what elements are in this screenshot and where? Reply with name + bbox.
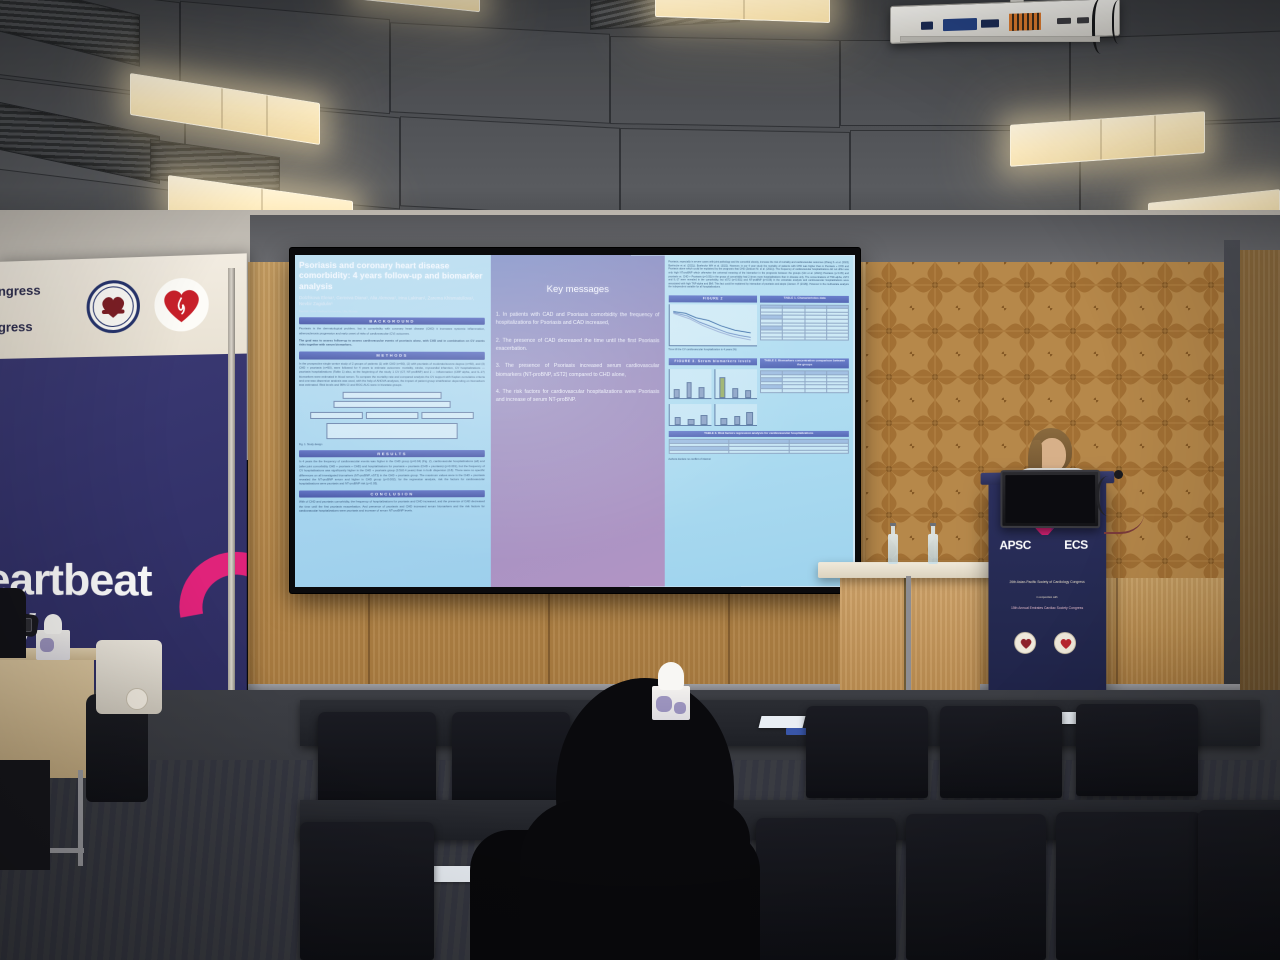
figure3-panel-b xyxy=(714,369,757,399)
seated-person-torso xyxy=(0,588,26,658)
seated-person-legs xyxy=(0,760,50,870)
podium-seal-right-icon xyxy=(1054,632,1076,654)
banner-top-section: ongress ngress xyxy=(0,253,247,359)
tissue-sheet xyxy=(44,614,62,634)
table3-label: TABLE 3. Risk factors regression analysi… xyxy=(668,430,849,437)
projector-port-block xyxy=(1009,13,1041,31)
podium-congress-line-1: 26th Asian-Pacific Society of Cardiology… xyxy=(992,580,1102,585)
key-message-item: 1. In patients with CAD and Psoriasis co… xyxy=(496,311,660,328)
projector-cable xyxy=(1092,0,1114,54)
tissue-sheet xyxy=(658,662,684,690)
banner-line-2: ngress xyxy=(0,319,33,335)
key-message-item: 2. The presence of CAD decreased the tim… xyxy=(496,336,660,353)
projector-bracket xyxy=(900,36,1100,42)
poster-footer-note: Authors declare no conflict of interest xyxy=(668,458,849,461)
podium-laptop[interactable] xyxy=(1000,470,1100,528)
key-message-item: 4. The risk factors for cardiovascular h… xyxy=(496,388,660,405)
laptop-screen xyxy=(1005,475,1095,523)
figure2-kaplan-meier-plot xyxy=(668,304,757,346)
conference-room-photo: Psoriasis and coronary heart disease com… xyxy=(0,0,1280,960)
wood-wall-far-right xyxy=(1238,250,1280,700)
section-head-results: RESULTS xyxy=(299,450,485,458)
auditorium-seat xyxy=(1198,810,1280,960)
banner-line-1: ongress xyxy=(0,283,41,300)
microphone-head-icon xyxy=(1114,470,1123,479)
water-bottle xyxy=(888,534,898,564)
podium-congress-line-3: 15th Annual Emirates Cardiac Society Con… xyxy=(992,606,1102,611)
figure2-label: FIGURE 2 xyxy=(668,295,757,302)
section-body-results: In 4 years the the frequency of cardiova… xyxy=(299,460,485,487)
podium-congress-line-2: in conjunction with xyxy=(992,596,1102,600)
figure2-caption: Time till the CV cardiovascular hospital… xyxy=(668,348,757,351)
poster-affiliation: Bashkir State Medical University, Ufa, R… xyxy=(299,309,485,314)
auditorium-seat xyxy=(318,712,436,808)
key-message-item: 3. The presence of Psoriasis increased s… xyxy=(496,362,660,379)
table1-characteristics xyxy=(760,304,849,341)
section-goal-background: The goal was to assess follow-up to asse… xyxy=(299,338,485,347)
section-head-background: BACKGROUND xyxy=(299,317,485,325)
apsc-society-seal-icon xyxy=(87,279,140,333)
tissue-box-pattern xyxy=(674,702,686,714)
wall-pillar xyxy=(1224,240,1240,710)
projection-screen: Psoriasis and coronary heart disease com… xyxy=(290,248,860,593)
auditorium-seat xyxy=(756,818,896,960)
figure1-caption: Fig. 1. Study design xyxy=(299,443,485,446)
figure3-panel-d xyxy=(714,404,757,426)
poster-authors: Dolzhkova Elena¹, Gereeva Diana¹, Alia A… xyxy=(299,295,485,308)
poster-column-right: Psoriasis, especially in severe cases wi… xyxy=(664,255,852,586)
poster-title: Psoriasis and coronary heart disease com… xyxy=(299,261,485,293)
attendee-hijab-drape xyxy=(520,800,750,960)
speaker-head xyxy=(1038,438,1066,472)
table2-label: TABLE 2. Biomarkers concentration compar… xyxy=(760,358,849,368)
section-head-conclusion: CONCLUSION xyxy=(299,490,485,498)
auditorium-seat xyxy=(452,712,570,808)
table2-biomarkers xyxy=(760,370,849,393)
figure1-study-design-flowchart xyxy=(310,391,473,438)
section-body-background: Psoriasis is the dermatological problem,… xyxy=(299,327,485,336)
desk-paper xyxy=(759,716,806,728)
podium-logo-text-left: APSC xyxy=(992,538,1038,552)
auditorium-seat xyxy=(906,814,1046,960)
figure3-panel-c xyxy=(668,404,711,426)
auditorium-seat xyxy=(1076,704,1198,796)
podium-seal-left-icon xyxy=(1014,632,1036,654)
table3-risk-factors xyxy=(668,439,849,454)
auditorium-seat xyxy=(806,706,928,798)
ceiling-light-panel xyxy=(360,0,480,12)
figure3-label: FIGURE 3. Serum biomarkers levels xyxy=(668,358,757,365)
auditorium-seat xyxy=(300,822,434,960)
water-bottle xyxy=(928,534,938,564)
auditorium-seat xyxy=(940,706,1062,798)
desk-pen-holder xyxy=(786,728,808,735)
tissue-box-pattern xyxy=(40,638,54,652)
poster-column-left: Psoriasis and coronary heart disease com… xyxy=(295,255,491,587)
projected-poster: Psoriasis and coronary heart disease com… xyxy=(295,255,855,587)
section-head-methods: METHODS xyxy=(299,351,485,359)
section-body-methods: In the prospective single-center study o… xyxy=(299,361,485,388)
podium-logo-text-right: ECS xyxy=(1054,538,1098,552)
table1-label: TABLE 1. Characteristics data xyxy=(760,296,849,303)
section-body-conclusion: With of CHD and psoriasis comorbidity, t… xyxy=(299,500,485,514)
auditorium-seat xyxy=(1056,812,1201,960)
projector-cable xyxy=(1112,0,1128,44)
poster-column-key-messages: Key messages 1. In patients with CAD and… xyxy=(491,255,665,587)
discussion-text: Psoriasis, especially in severe cases wi… xyxy=(668,260,849,290)
tissue-box-pattern xyxy=(656,696,672,712)
figure3-panel-a xyxy=(668,369,711,399)
key-messages-title: Key messages xyxy=(496,284,660,296)
office-chair-seal-icon xyxy=(126,688,148,710)
emirates-cardiac-society-seal-icon xyxy=(154,277,208,332)
